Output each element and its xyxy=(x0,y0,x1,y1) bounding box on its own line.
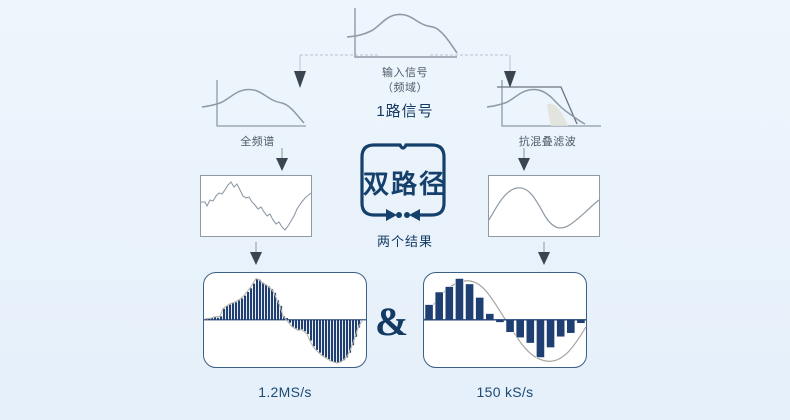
dual-path-title: 双路径 xyxy=(340,164,470,201)
left-branch-label: 全频谱 xyxy=(205,133,310,149)
arrow-right-to-midbox-icon xyxy=(517,148,531,172)
dense-rate-label: 1.2MS/s xyxy=(203,384,367,400)
dense-sampled-bars-icon xyxy=(204,273,366,367)
rejected-band-shading xyxy=(547,104,568,126)
ampersand-symbol: & xyxy=(375,298,408,345)
dense-sampled-result-box xyxy=(203,272,367,368)
input-spectrum-icon xyxy=(345,5,465,63)
dot-right xyxy=(404,212,410,218)
diagram-canvas: 输入信号 （频域） 1路信号 全频谱 抗混叠滤波 双路径 两个结 xyxy=(0,0,790,420)
spectrum-curve xyxy=(347,14,457,53)
one-channel-label: 1路信号 xyxy=(340,100,470,121)
two-results-label: 两个结果 xyxy=(340,231,470,250)
right-branch-label: 抗混叠滤波 xyxy=(490,133,605,149)
waveform-trace xyxy=(201,182,311,230)
sparse-rate-label: 150 kS/s xyxy=(423,384,587,400)
sparse-sampled-bars-icon xyxy=(424,273,586,367)
sine-waveform-box xyxy=(488,175,600,237)
axes xyxy=(217,80,306,126)
input-signal-label: 输入信号 （频域） xyxy=(345,66,465,96)
filter-response xyxy=(497,87,577,124)
anti-alias-filter-icon xyxy=(485,78,605,132)
arrow-left-to-result-icon xyxy=(249,242,263,266)
arrow-left-head-icon xyxy=(409,209,420,221)
arrow-left-to-midbox-icon xyxy=(275,148,289,172)
dot-left xyxy=(396,212,402,218)
arrow-right-to-result-icon xyxy=(537,242,551,266)
full-spectrum-icon xyxy=(200,78,310,132)
sine-waveform-icon xyxy=(489,176,599,236)
arrow-right-head-icon xyxy=(386,209,397,221)
sine-trace xyxy=(489,188,599,228)
noisy-waveform-icon xyxy=(201,176,311,236)
sparse-sampled-result-box xyxy=(423,272,587,368)
bar-group xyxy=(205,279,360,363)
noisy-waveform-box xyxy=(200,175,312,237)
